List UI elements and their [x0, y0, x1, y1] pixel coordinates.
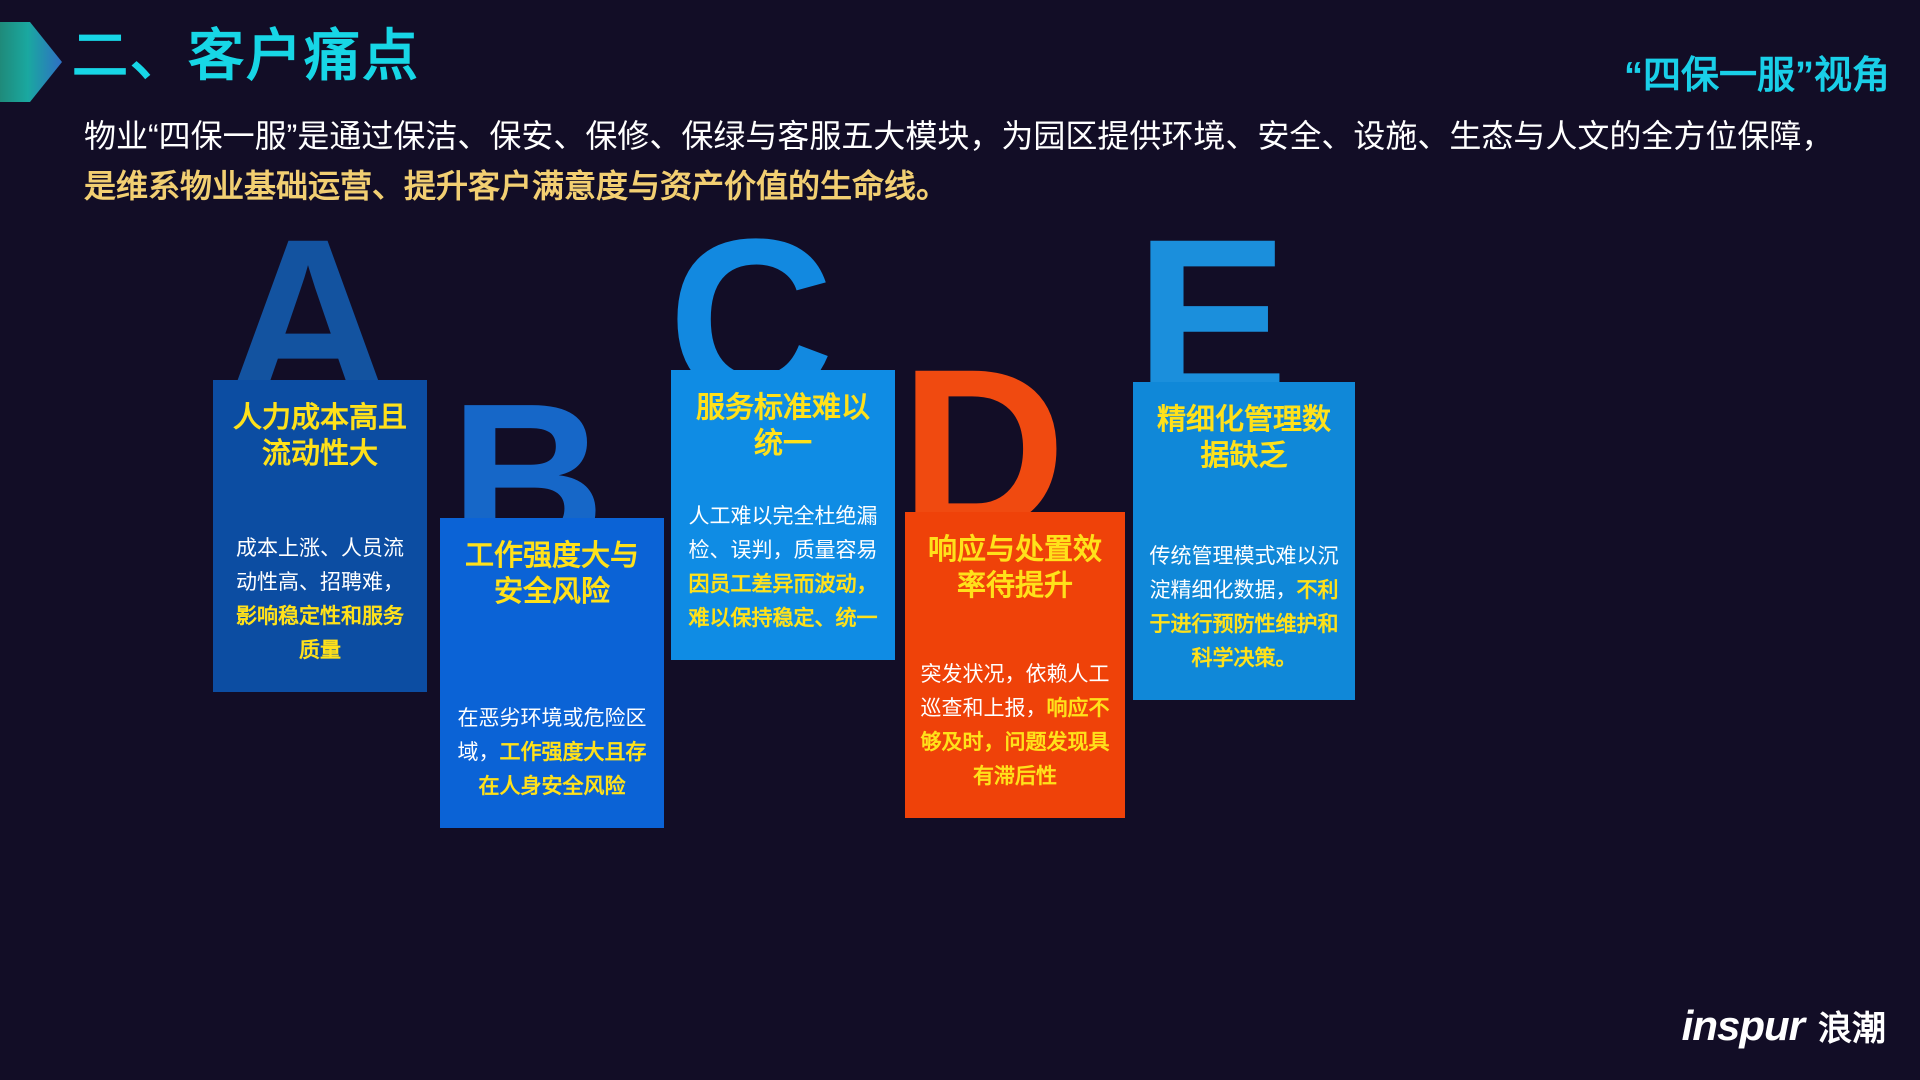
card-title-c: 服务标准难以统一: [685, 390, 881, 463]
brand-logo: inspur 浪潮: [1682, 1001, 1886, 1050]
column-card-d[interactable]: 响应与处置效率待提升 突发状况，依赖人工巡查和上报，响应不够及时，问题发现具有滞…: [905, 512, 1125, 818]
header-arrow-icon: [0, 22, 62, 102]
column-card-a[interactable]: 人力成本高且流动性大 成本上涨、人员流动性高、招聘难，影响稳定性和服务质量: [213, 380, 427, 692]
card-body-a: 成本上涨、人员流动性高、招聘难，影响稳定性和服务质量: [227, 532, 413, 668]
pain-point-columns: A 人力成本高且流动性大 成本上涨、人员流动性高、招聘难，影响稳定性和服务质量 …: [0, 230, 1920, 850]
card-title-e: 精细化管理数据缺乏: [1147, 402, 1341, 475]
card-body-plain-a: 成本上涨、人员流动性高、招聘难，: [236, 537, 404, 594]
card-body-em-a: 影响稳定性和服务质量: [236, 605, 404, 662]
column-card-b[interactable]: 工作强度大与安全风险 在恶劣环境或危险区域，工作强度大且存在人身安全风险: [440, 518, 664, 828]
page-title: 二、客户痛点: [72, 28, 420, 84]
card-body-plain-c: 人工难以完全杜绝漏检、误判，质量容易: [689, 505, 878, 562]
card-body-c: 人工难以完全杜绝漏检、误判，质量容易因员工差异而波动，难以保持稳定、统一: [685, 500, 881, 636]
card-title-a: 人力成本高且流动性大: [227, 400, 413, 473]
column-card-e[interactable]: 精细化管理数据缺乏 传统管理模式难以沉淀精细化数据，不利于进行预防性维护和科学决…: [1133, 382, 1355, 700]
logo-text-zh: 浪潮: [1818, 1001, 1886, 1050]
card-body-b: 在恶劣环境或危险区域，工作强度大且存在人身安全风险: [454, 702, 650, 804]
card-body-e: 传统管理模式难以沉淀精细化数据，不利于进行预防性维护和科学决策。: [1147, 540, 1341, 676]
card-title-d: 响应与处置效率待提升: [919, 532, 1111, 605]
card-title-b: 工作强度大与安全风险: [454, 538, 650, 611]
header-right-label: “四保一服”视角: [1624, 44, 1890, 99]
card-body-em-b: 工作强度大且存在人身安全风险: [479, 741, 647, 798]
card-body-d: 突发状况，依赖人工巡查和上报，响应不够及时，问题发现具有滞后性: [919, 658, 1111, 794]
card-body-em-c: 因员工差异而波动，难以保持稳定、统一: [689, 573, 878, 630]
intro-text-plain: 物业“四保一服”是通过保洁、保安、保修、保绿与客服五大模块，为园区提供环境、安全…: [84, 118, 1833, 154]
column-card-c[interactable]: 服务标准难以统一 人工难以完全杜绝漏检、误判，质量容易因员工差异而波动，难以保持…: [671, 370, 895, 660]
logo-text-en: inspur: [1682, 1002, 1804, 1050]
